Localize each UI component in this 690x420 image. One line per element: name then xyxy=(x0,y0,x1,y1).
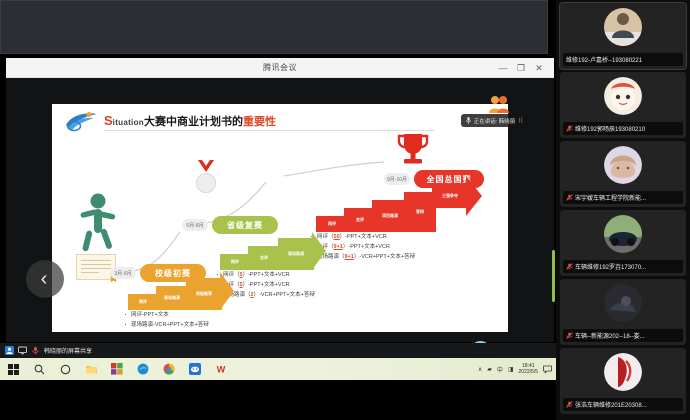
school-step-3: 校级推荐 xyxy=(186,278,222,310)
search-icon[interactable] xyxy=(26,358,52,380)
participant-name-4: 车辆--新能源202--18--娄... xyxy=(575,331,645,340)
national-arrow-head xyxy=(466,176,482,216)
province-step-3: 现场路演 xyxy=(278,238,314,270)
tray-ime-icon[interactable]: 中 xyxy=(497,365,503,374)
participant-name-0: 维修192-卢嘉桥--193080221 xyxy=(566,55,642,64)
close-button[interactable]: ✕ xyxy=(532,62,546,74)
meeting-content-area: Situation大赛中商业计划书的重要性 xyxy=(6,78,554,342)
province-step-2: 会评 xyxy=(248,246,280,270)
school-arrow-head xyxy=(220,272,234,310)
tencent-meeting-icon[interactable] xyxy=(182,358,208,380)
province-stage-pill: 省级复赛 xyxy=(212,216,278,234)
mute-icon xyxy=(566,401,573,408)
mute-icon xyxy=(566,125,573,132)
mute-icon xyxy=(566,332,573,339)
school-bullets: 网评-PPT+文本 现场路演-VCR+PPT+文本+答辩 xyxy=(122,310,209,330)
participant-namebar-5: 张浩车辆维修201E20308... xyxy=(563,398,683,411)
speaking-wave-icon: ⟨⟨ xyxy=(518,117,523,124)
participant-namebar-4: 车辆--新能源202--18--娄... xyxy=(563,329,683,342)
participant-name-5: 张浩车辆维修201E20308... xyxy=(575,400,647,409)
speaking-avatar xyxy=(488,94,510,114)
screen-root: 腾讯会议 — ❐ ✕ Situation大赛中商业计划书的重要性 xyxy=(0,0,690,420)
tray-volume-icon[interactable]: ◨ xyxy=(508,366,514,373)
avatar xyxy=(604,77,642,115)
province-date-chip: 6月-8月 xyxy=(182,219,208,231)
walking-person-icon xyxy=(78,192,118,256)
trophy-icon xyxy=(396,132,430,166)
minimize-button[interactable]: — xyxy=(496,62,510,74)
school-step-2: 现场路演 xyxy=(156,286,188,310)
desktop-wallpaper xyxy=(0,0,548,54)
mute-icon xyxy=(566,194,573,201)
participant-tile-2[interactable]: 宋宇嫒车辆工程学院新能... xyxy=(560,141,686,207)
chevron-left-icon: ‹ xyxy=(41,269,48,289)
participant-tile-3[interactable]: 车辆维修192罗壵173070... xyxy=(560,210,686,276)
shared-screen-area: 腾讯会议 — ❐ ✕ Situation大赛中商业计划书的重要性 xyxy=(0,0,556,420)
national-step-3: 项目路演 xyxy=(372,200,408,232)
windows-start-icon[interactable] xyxy=(0,358,26,380)
school-bullet-1: 网评-PPT+文本 xyxy=(122,310,209,320)
participant-name-3: 车辆维修192罗壵173070... xyxy=(575,262,646,271)
explorer-icon[interactable] xyxy=(78,358,104,380)
windows-taskbar: W ∧ ▰ 中 ◨ 18:41 2022/5/5 xyxy=(0,358,556,380)
national-date-chip: 9月-10月 xyxy=(384,173,410,185)
speaking-indicator: 正在讲话: 韩晓丽 ⟨⟨ xyxy=(461,114,528,127)
participant-video-strip: 维修192-卢嘉桥--193080221 维修192郭旸辰193080210 宋… xyxy=(556,0,690,420)
participant-strip-scrollbar[interactable] xyxy=(552,250,555,302)
province-step-1: 网评 xyxy=(220,254,250,270)
notification-icon[interactable] xyxy=(543,365,552,374)
participant-name-1: 维修192郭旸辰193080210 xyxy=(575,124,645,133)
wps-icon[interactable]: W xyxy=(208,358,234,380)
cortana-icon[interactable] xyxy=(52,358,78,380)
share-label: 韩晓丽的屏幕共享 xyxy=(44,346,92,355)
person-icon xyxy=(5,346,14,355)
maximize-button[interactable]: ❐ xyxy=(514,62,528,74)
tray-network-icon[interactable]: ▰ xyxy=(487,366,492,373)
province-arrow-head xyxy=(312,232,326,270)
avatar xyxy=(604,353,642,391)
avatar xyxy=(604,146,642,184)
microphone-icon xyxy=(31,346,40,355)
edge-icon[interactable] xyxy=(130,358,156,380)
avatar xyxy=(604,284,642,322)
medal-icon xyxy=(194,160,218,194)
participant-namebar-0: 维修192-卢嘉桥--193080221 xyxy=(563,53,683,66)
monitor-icon xyxy=(18,346,27,355)
desktop-background-lower xyxy=(0,380,556,420)
participant-namebar-1: 维修192郭旸辰193080210 xyxy=(563,122,683,135)
window-titlebar: 腾讯会议 — ❐ ✕ xyxy=(6,58,554,78)
microphone-icon xyxy=(466,117,471,124)
participant-name-2: 宋宇嫒车辆工程学院新能... xyxy=(575,193,646,202)
chrome-icon[interactable] xyxy=(156,358,182,380)
participant-namebar-3: 车辆维修192罗壵173070... xyxy=(563,260,683,273)
national-step-5: 三强争夺 xyxy=(432,184,468,208)
presentation-slide: Situation大赛中商业计划书的重要性 xyxy=(52,104,508,332)
participant-tile-0[interactable]: 维修192-卢嘉桥--193080221 xyxy=(560,3,686,69)
school-date-chip: 3月-6月 xyxy=(110,267,136,279)
system-tray: ∧ ▰ 中 ◨ 18:41 2022/5/5 xyxy=(478,358,552,380)
participant-namebar-2: 宋宇嫒车辆工程学院新能... xyxy=(563,191,683,204)
screen-share-bar: 韩晓丽的屏幕共享 xyxy=(0,343,556,358)
tencent-meeting-window: 腾讯会议 — ❐ ✕ Situation大赛中商业计划书的重要性 xyxy=(6,58,554,342)
participant-tile-5[interactable]: 张浩车辆维修201E20308... xyxy=(560,348,686,414)
office-icon[interactable] xyxy=(104,358,130,380)
tray-chevron-icon[interactable]: ∧ xyxy=(478,366,482,373)
clock-date: 2022/5/5 xyxy=(519,369,538,375)
participant-tile-4[interactable]: 车辆--新能源202--18--娄... xyxy=(560,279,686,345)
speaking-label: 正在讲话: 韩晓丽 xyxy=(474,117,516,125)
previous-page-button[interactable]: ‹ xyxy=(26,260,64,298)
avatar xyxy=(604,8,642,46)
taskbar-clock[interactable]: 18:41 2022/5/5 xyxy=(519,363,538,375)
participant-tile-1[interactable]: 维修192郭旸辰193080210 xyxy=(560,72,686,138)
mute-icon xyxy=(566,263,573,270)
school-bullet-2: 现场路演-VCR+PPT+文本+答辩 xyxy=(122,320,209,330)
window-title: 腾讯会议 xyxy=(263,62,297,73)
avatar xyxy=(604,215,642,253)
svg-text:W: W xyxy=(217,365,226,375)
school-step-1: 网评 xyxy=(128,294,158,310)
